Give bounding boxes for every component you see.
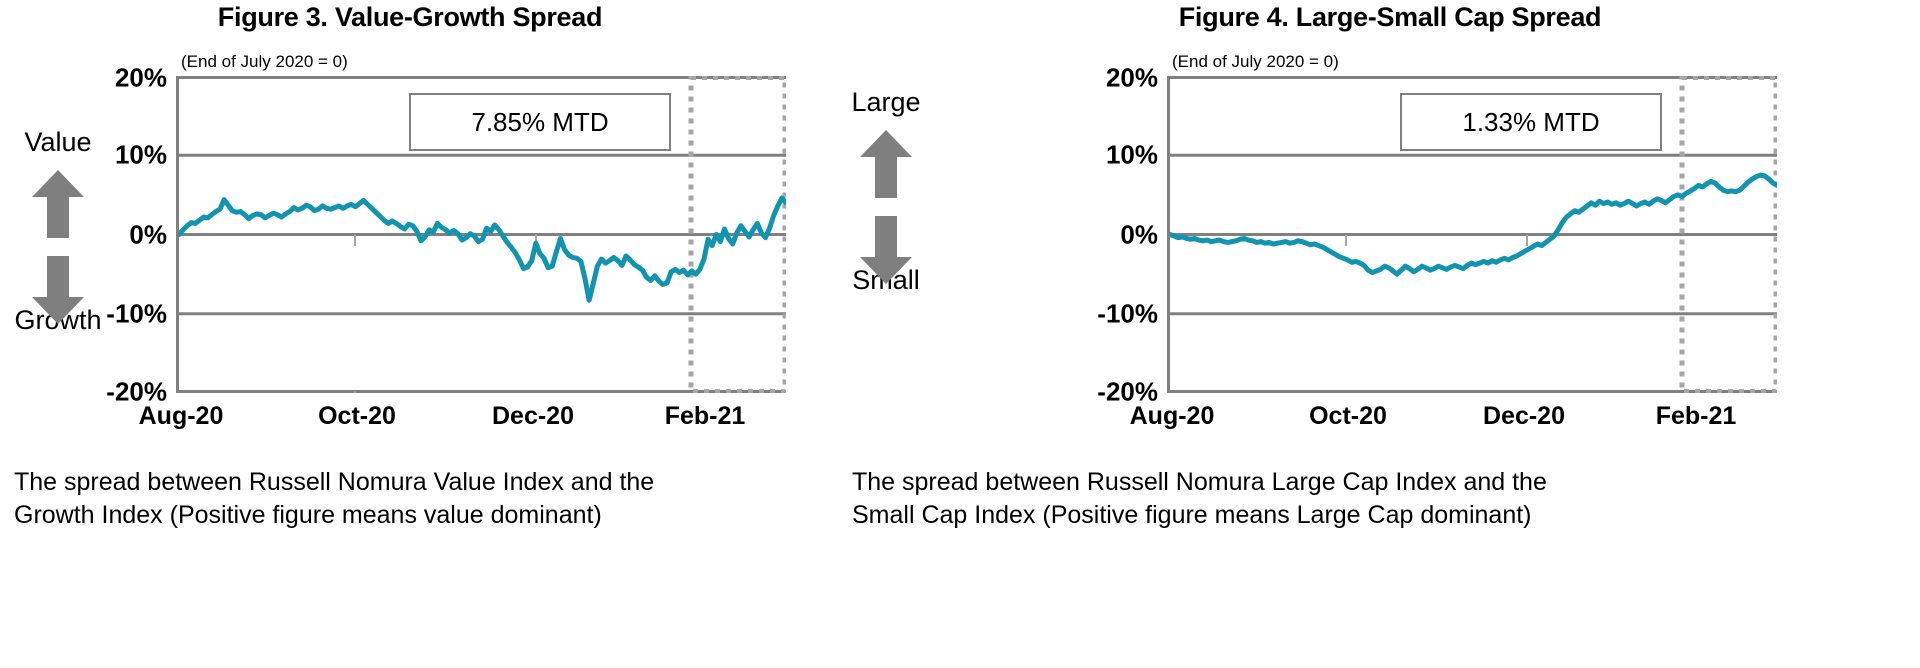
figure-4-title: Figure 4. Large-Small Cap Spread bbox=[910, 2, 1870, 33]
figure-3-ytick-10: 10% bbox=[115, 140, 176, 171]
figure-3-caption-line-2: Growth Index (Positive figure means valu… bbox=[14, 499, 714, 532]
figure-4-ytick-0: 0% bbox=[1120, 219, 1167, 250]
figure-4-direction-legend: Large Small bbox=[830, 88, 942, 295]
figure-4-panel: Figure 4. Large-Small Cap Spread (End of… bbox=[960, 0, 1920, 668]
figure-4-ytick-neg10: -10% bbox=[1097, 298, 1167, 329]
figure-4-plot-area: 20% 10% 0% -10% -20% Aug-20 Oct-20 Dec-2… bbox=[1167, 76, 1777, 393]
figure-3-title: Figure 3. Value-Growth Spread bbox=[0, 2, 890, 33]
figure-3-caption: The spread between Russell Nomura Value … bbox=[14, 466, 714, 532]
figure-4-ytick-10: 10% bbox=[1106, 140, 1167, 171]
down-arrow-icon bbox=[32, 256, 84, 324]
figure-3-mtd-box: 7.85% MTD bbox=[409, 93, 671, 151]
figures-page: Figure 3. Value-Growth Spread (End of Ju… bbox=[0, 0, 1920, 668]
figure-4-xtick-aug20: Aug-20 bbox=[1130, 402, 1215, 431]
figure-4-ytick-20: 20% bbox=[1106, 62, 1167, 93]
figure-4-caption-line-1: The spread between Russell Nomura Large … bbox=[852, 466, 1612, 499]
figure-3-ytick-20: 20% bbox=[115, 62, 176, 93]
figure-3-legend-top-label: Value bbox=[2, 128, 114, 156]
figure-3-ytick-neg10: -10% bbox=[106, 298, 176, 329]
figure-3-xtick-oct20: Oct-20 bbox=[318, 402, 396, 431]
figure-4-series-line bbox=[1170, 175, 1777, 274]
figure-4-legend-top-label: Large bbox=[830, 88, 942, 116]
figure-3-xtick-aug20: Aug-20 bbox=[139, 402, 224, 431]
figure-3-ytick-0: 0% bbox=[129, 219, 176, 250]
figure-3-xtick-feb21: Feb-21 bbox=[665, 402, 746, 431]
figure-3-direction-legend: Value Growth bbox=[2, 128, 114, 335]
figure-3-axis-note: (End of July 2020 = 0) bbox=[181, 52, 348, 72]
figure-4-mtd-box: 1.33% MTD bbox=[1400, 93, 1662, 151]
figure-3-arrow-group bbox=[2, 156, 114, 306]
figure-4-xtick-dec20: Dec-20 bbox=[1483, 402, 1565, 431]
figure-4-axis-note: (End of July 2020 = 0) bbox=[1172, 52, 1339, 72]
figure-3-panel: Figure 3. Value-Growth Spread (End of Ju… bbox=[0, 0, 960, 668]
up-arrow-icon bbox=[860, 130, 912, 198]
figure-4-xtick-oct20: Oct-20 bbox=[1309, 402, 1387, 431]
figure-4-xtick-feb21: Feb-21 bbox=[1656, 402, 1737, 431]
figure-3-xtick-dec20: Dec-20 bbox=[492, 402, 574, 431]
figure-3-caption-line-1: The spread between Russell Nomura Value … bbox=[14, 466, 714, 499]
down-arrow-icon bbox=[860, 216, 912, 284]
figure-3-plot-area: 20% 10% 0% -10% -20% Aug-20 Oct-20 Dec-2… bbox=[176, 76, 786, 393]
figure-4-caption: The spread between Russell Nomura Large … bbox=[852, 466, 1612, 532]
figure-4-caption-line-2: Small Cap Index (Positive figure means L… bbox=[852, 499, 1612, 532]
figure-3-series-line bbox=[179, 198, 786, 300]
up-arrow-icon bbox=[32, 170, 84, 238]
figure-4-arrow-group bbox=[830, 116, 942, 266]
